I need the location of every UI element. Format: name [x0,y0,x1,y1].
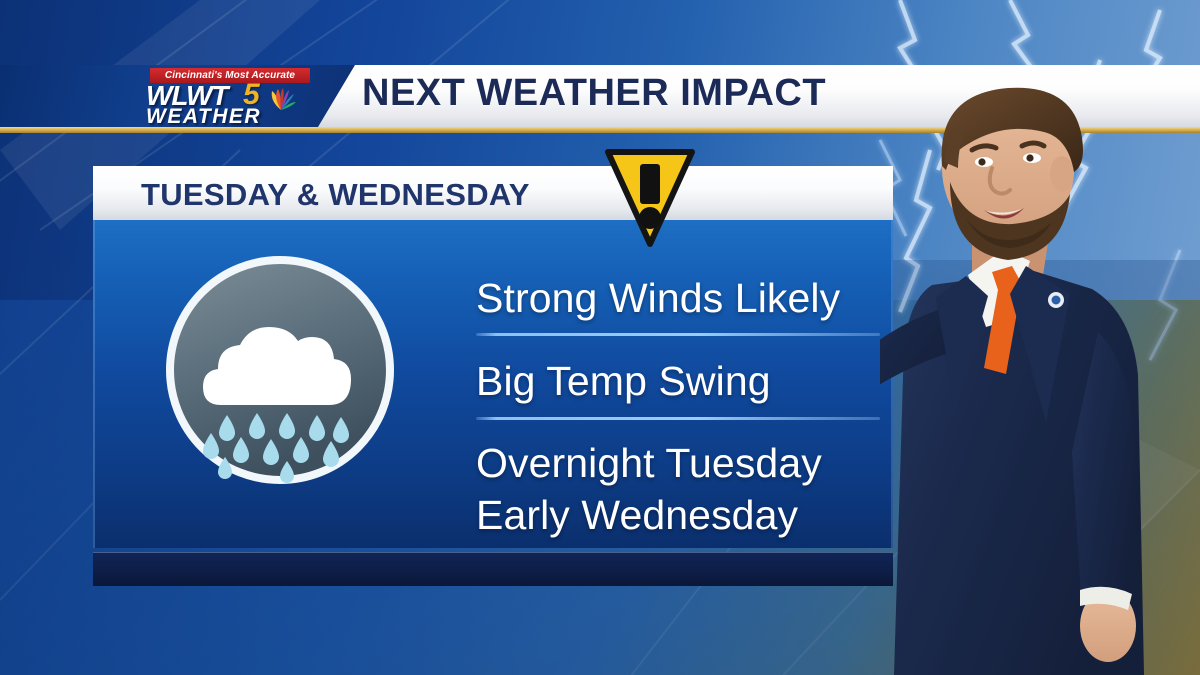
broadcast-stage: NEXT WEATHER IMPACT Cincinnati's Most Ac… [0,0,1200,675]
bullet-timing-line1: Overnight Tuesday [476,440,822,487]
bullet-temp-swing: Big Temp Swing [476,358,771,405]
rain-cloud-icon [165,255,395,485]
bullet-strong-winds: Strong Winds Likely [476,275,840,322]
bullet-divider-1 [476,333,880,336]
weather-anchor [880,70,1200,675]
panel-title: TUESDAY & WEDNESDAY [141,177,530,213]
station-logo: Cincinnati's Most Accurate WLWT 5 [0,65,355,127]
page-title: NEXT WEATHER IMPACT [362,72,826,115]
bullet-divider-2 [476,417,880,420]
panel-footer [93,552,893,586]
nbc-peacock-icon [264,84,298,114]
station-department: WEATHER [146,105,261,127]
bullet-timing-line2: Early Wednesday [476,492,798,539]
warning-triangle-icon [604,148,696,248]
panel-title-bar: TUESDAY & WEDNESDAY [93,166,893,220]
